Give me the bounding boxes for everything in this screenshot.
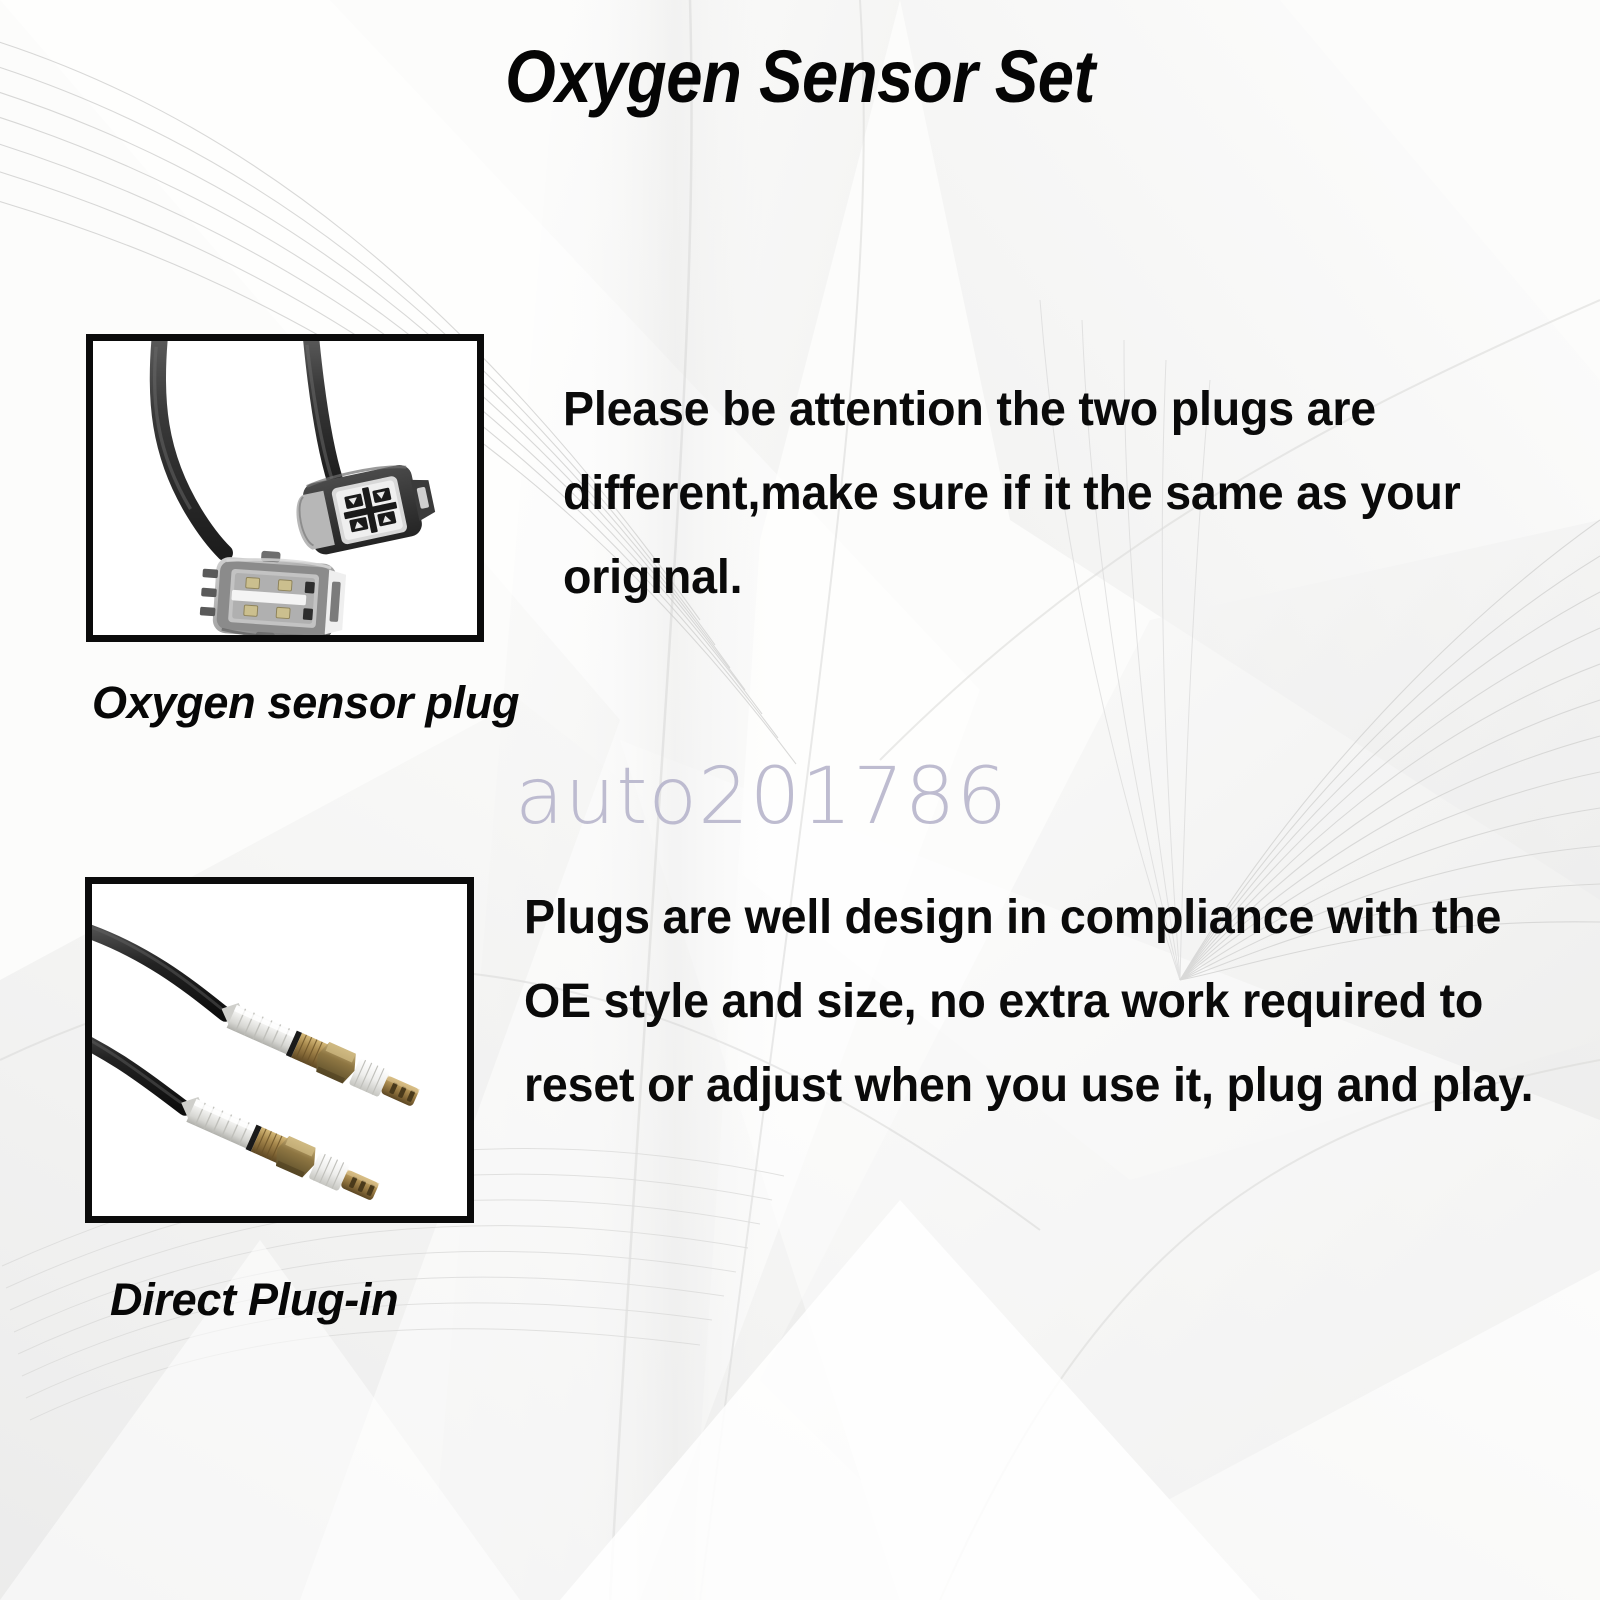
oxygen-sensor-plug-illustration [93,341,477,635]
plug-difference-notice: Please be attention the two plugs are di… [563,368,1533,620]
photo-direct-plug-in [85,877,474,1223]
oe-compliance-notice: Plugs are well design in compliance with… [524,876,1552,1128]
page-title: Oxygen Sensor Set [96,34,1504,119]
caption-direct-plug-in: Direct Plug-in [110,1274,398,1326]
caption-oxygen-sensor-plug: Oxygen sensor plug [92,677,519,729]
product-listing-image: Oxygen Sensor Set [0,0,1600,1600]
seller-watermark: auto201786 [515,752,1008,842]
oxygen-sensor-illustration [92,884,467,1216]
photo-oxygen-sensor-plug [86,334,484,642]
